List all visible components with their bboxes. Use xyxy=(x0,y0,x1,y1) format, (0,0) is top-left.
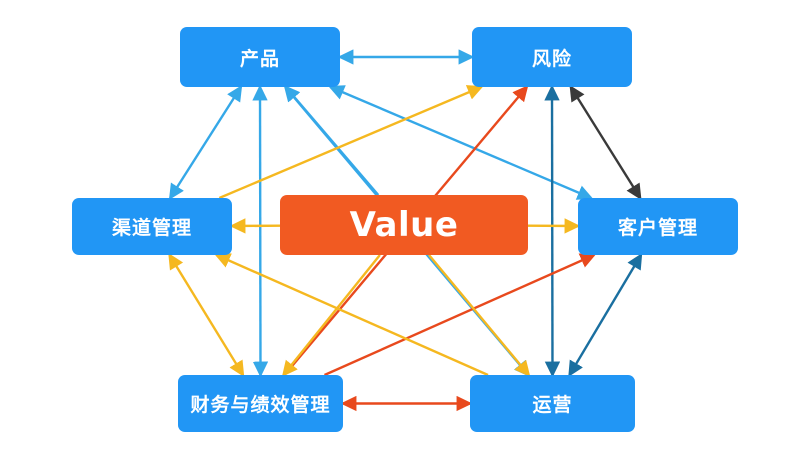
edge-risk-to-operation xyxy=(552,87,553,375)
node-finance-performance-management-label: 财务与绩效管理 xyxy=(190,390,330,417)
edge-value-to-product xyxy=(286,87,379,195)
edge-customer-to-operation xyxy=(570,255,642,375)
node-value-center[interactable]: Value xyxy=(280,195,528,255)
edge-product-to-channel xyxy=(170,87,241,198)
edge-value-to-operation xyxy=(429,255,529,375)
node-customer-management-label: 客户管理 xyxy=(618,213,698,240)
edge-operation-to-channel xyxy=(217,255,489,375)
node-operations-label: 运营 xyxy=(532,390,572,417)
edge-product-to-finance xyxy=(260,87,261,375)
node-channel-management-label: 渠道管理 xyxy=(112,213,192,240)
node-risk[interactable]: 风险 xyxy=(472,27,632,87)
node-customer-management[interactable]: 客户管理 xyxy=(578,198,738,255)
node-risk-label: 风险 xyxy=(532,44,572,71)
edge-channel-to-risk xyxy=(219,87,481,198)
node-value-label: Value xyxy=(350,205,459,245)
diagram-canvas: 产品 风险 渠道管理 客户管理 财务与绩效管理 运营 Value xyxy=(0,0,800,449)
edge-risk-to-customer xyxy=(571,87,640,198)
node-finance-performance-management[interactable]: 财务与绩效管理 xyxy=(178,375,343,432)
node-product-label: 产品 xyxy=(240,44,280,71)
node-channel-management[interactable]: 渠道管理 xyxy=(72,198,232,255)
node-operations[interactable]: 运营 xyxy=(470,375,635,432)
edge-channel-to-finance xyxy=(170,255,244,375)
node-product[interactable]: 产品 xyxy=(180,27,340,87)
